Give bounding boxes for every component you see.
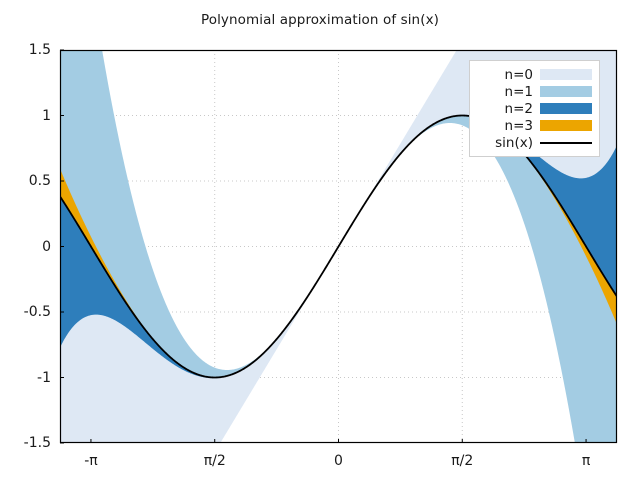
legend-label: n=1: [505, 84, 533, 100]
chart-figure: Polynomial approximation of sin(x) 1.510…: [0, 0, 640, 480]
y-axis-tick-label: 1.5: [0, 42, 51, 58]
legend-line-sample: [540, 137, 592, 148]
y-axis-tick-label: -1.5: [0, 435, 51, 451]
legend-line: [540, 142, 592, 144]
legend-item-sinx[interactable]: sin(x): [476, 134, 592, 151]
y-axis-tick-label: 1: [0, 108, 51, 124]
legend-item-n1[interactable]: n=1: [476, 83, 592, 100]
legend-color-swatch: [540, 120, 592, 131]
y-axis-tick-label: -0.5: [0, 304, 51, 320]
legend-item-n2[interactable]: n=2: [476, 100, 592, 117]
legend-color-swatch: [540, 69, 592, 80]
y-axis-tick-label: -1: [0, 370, 51, 386]
chart-legend[interactable]: n=0n=1n=2n=3sin(x): [469, 60, 600, 157]
legend-label: n=2: [505, 101, 533, 117]
legend-label: sin(x): [495, 135, 533, 151]
legend-item-n0[interactable]: n=0: [476, 66, 592, 83]
x-axis-tick-label: π/2: [204, 453, 226, 469]
y-axis-tick-label: 0: [0, 239, 51, 255]
x-axis-tick-label: π: [582, 453, 590, 469]
legend-item-n3[interactable]: n=3: [476, 117, 592, 134]
legend-color-swatch: [540, 86, 592, 97]
x-axis-tick-label: -π: [84, 453, 97, 469]
y-axis-tick-label: 0.5: [0, 173, 51, 189]
legend-label: n=0: [505, 67, 533, 83]
legend-color-swatch: [540, 103, 592, 114]
x-axis-tick-label: 0: [334, 453, 343, 469]
x-axis-tick-label: π/2: [451, 453, 473, 469]
legend-label: n=3: [505, 118, 533, 134]
